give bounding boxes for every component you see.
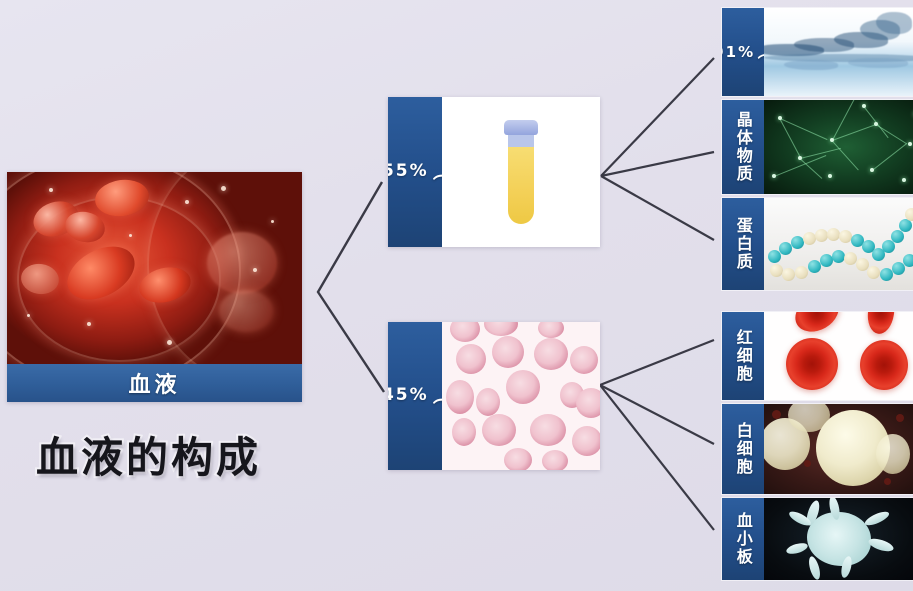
page-title: 血液的构成 [36,424,261,485]
test-tube-icon [508,120,534,224]
crystal-network-photo [764,100,913,194]
blood-source-caption: 血液 [7,364,302,402]
protein-chain-photo [764,198,913,290]
plasma-test-tube [442,97,600,247]
blood-cells-label-value: 45% [388,386,429,405]
test-tube-body [508,129,534,224]
crystalloid-card[interactable]: 晶体物质 [722,100,913,194]
erythrocyte-card[interactable]: 红细胞 [722,312,913,400]
diagram-canvas: 血液 血液的构成 血浆 （ 55% ） 血细胞 （ 45% ） [0,0,913,591]
platelet-card[interactable]: 血小板 [722,498,913,580]
water-label: 水 （ 91% ） [722,8,764,96]
blood-cells-card[interactable]: 血细胞 （ 45% ） [388,322,600,470]
connector-plasma-to-protein [601,176,714,240]
test-tube-cap [504,120,538,135]
connector-cells-to-erythrocyte [600,340,714,385]
crystalloid-label: 晶体物质 [722,100,764,194]
connector-cells-to-platelet [600,385,714,530]
plasma-label: 血浆 （ 55% ） [388,97,442,247]
leukocyte-card[interactable]: 白细胞 [722,404,913,494]
leukocyte-label: 白细胞 [722,404,764,494]
water-splash-photo [764,8,913,96]
blood-smear-micrograph [442,322,600,470]
connector-plasma-to-crystalloid [601,152,714,176]
blood-cells-label: 血细胞 （ 45% ） [388,322,442,470]
protein-label: 蛋白质 [722,198,764,290]
water-card[interactable]: 水 （ 91% ） [722,8,913,96]
white-blood-cell-photo [764,404,913,494]
protein-card[interactable]: 蛋白质 [722,198,913,290]
platelet-photo [764,498,913,580]
connector-plasma-to-water [601,58,714,176]
erythrocyte-label: 红细胞 [722,312,764,400]
platelet-label: 血小板 [722,498,764,580]
connector-cells-to-leukocyte [600,385,714,444]
water-label-value: 91% [722,44,755,61]
plasma-label-value: 55% [388,162,429,181]
red-blood-cell-photo [764,312,913,400]
blood-source-card[interactable]: 血液 [7,172,302,402]
blood-vessel-photo [7,172,302,364]
platelet-body [807,512,871,566]
plasma-card[interactable]: 血浆 （ 55% ） [388,97,600,247]
connector-blood-to-plasma [318,182,384,392]
